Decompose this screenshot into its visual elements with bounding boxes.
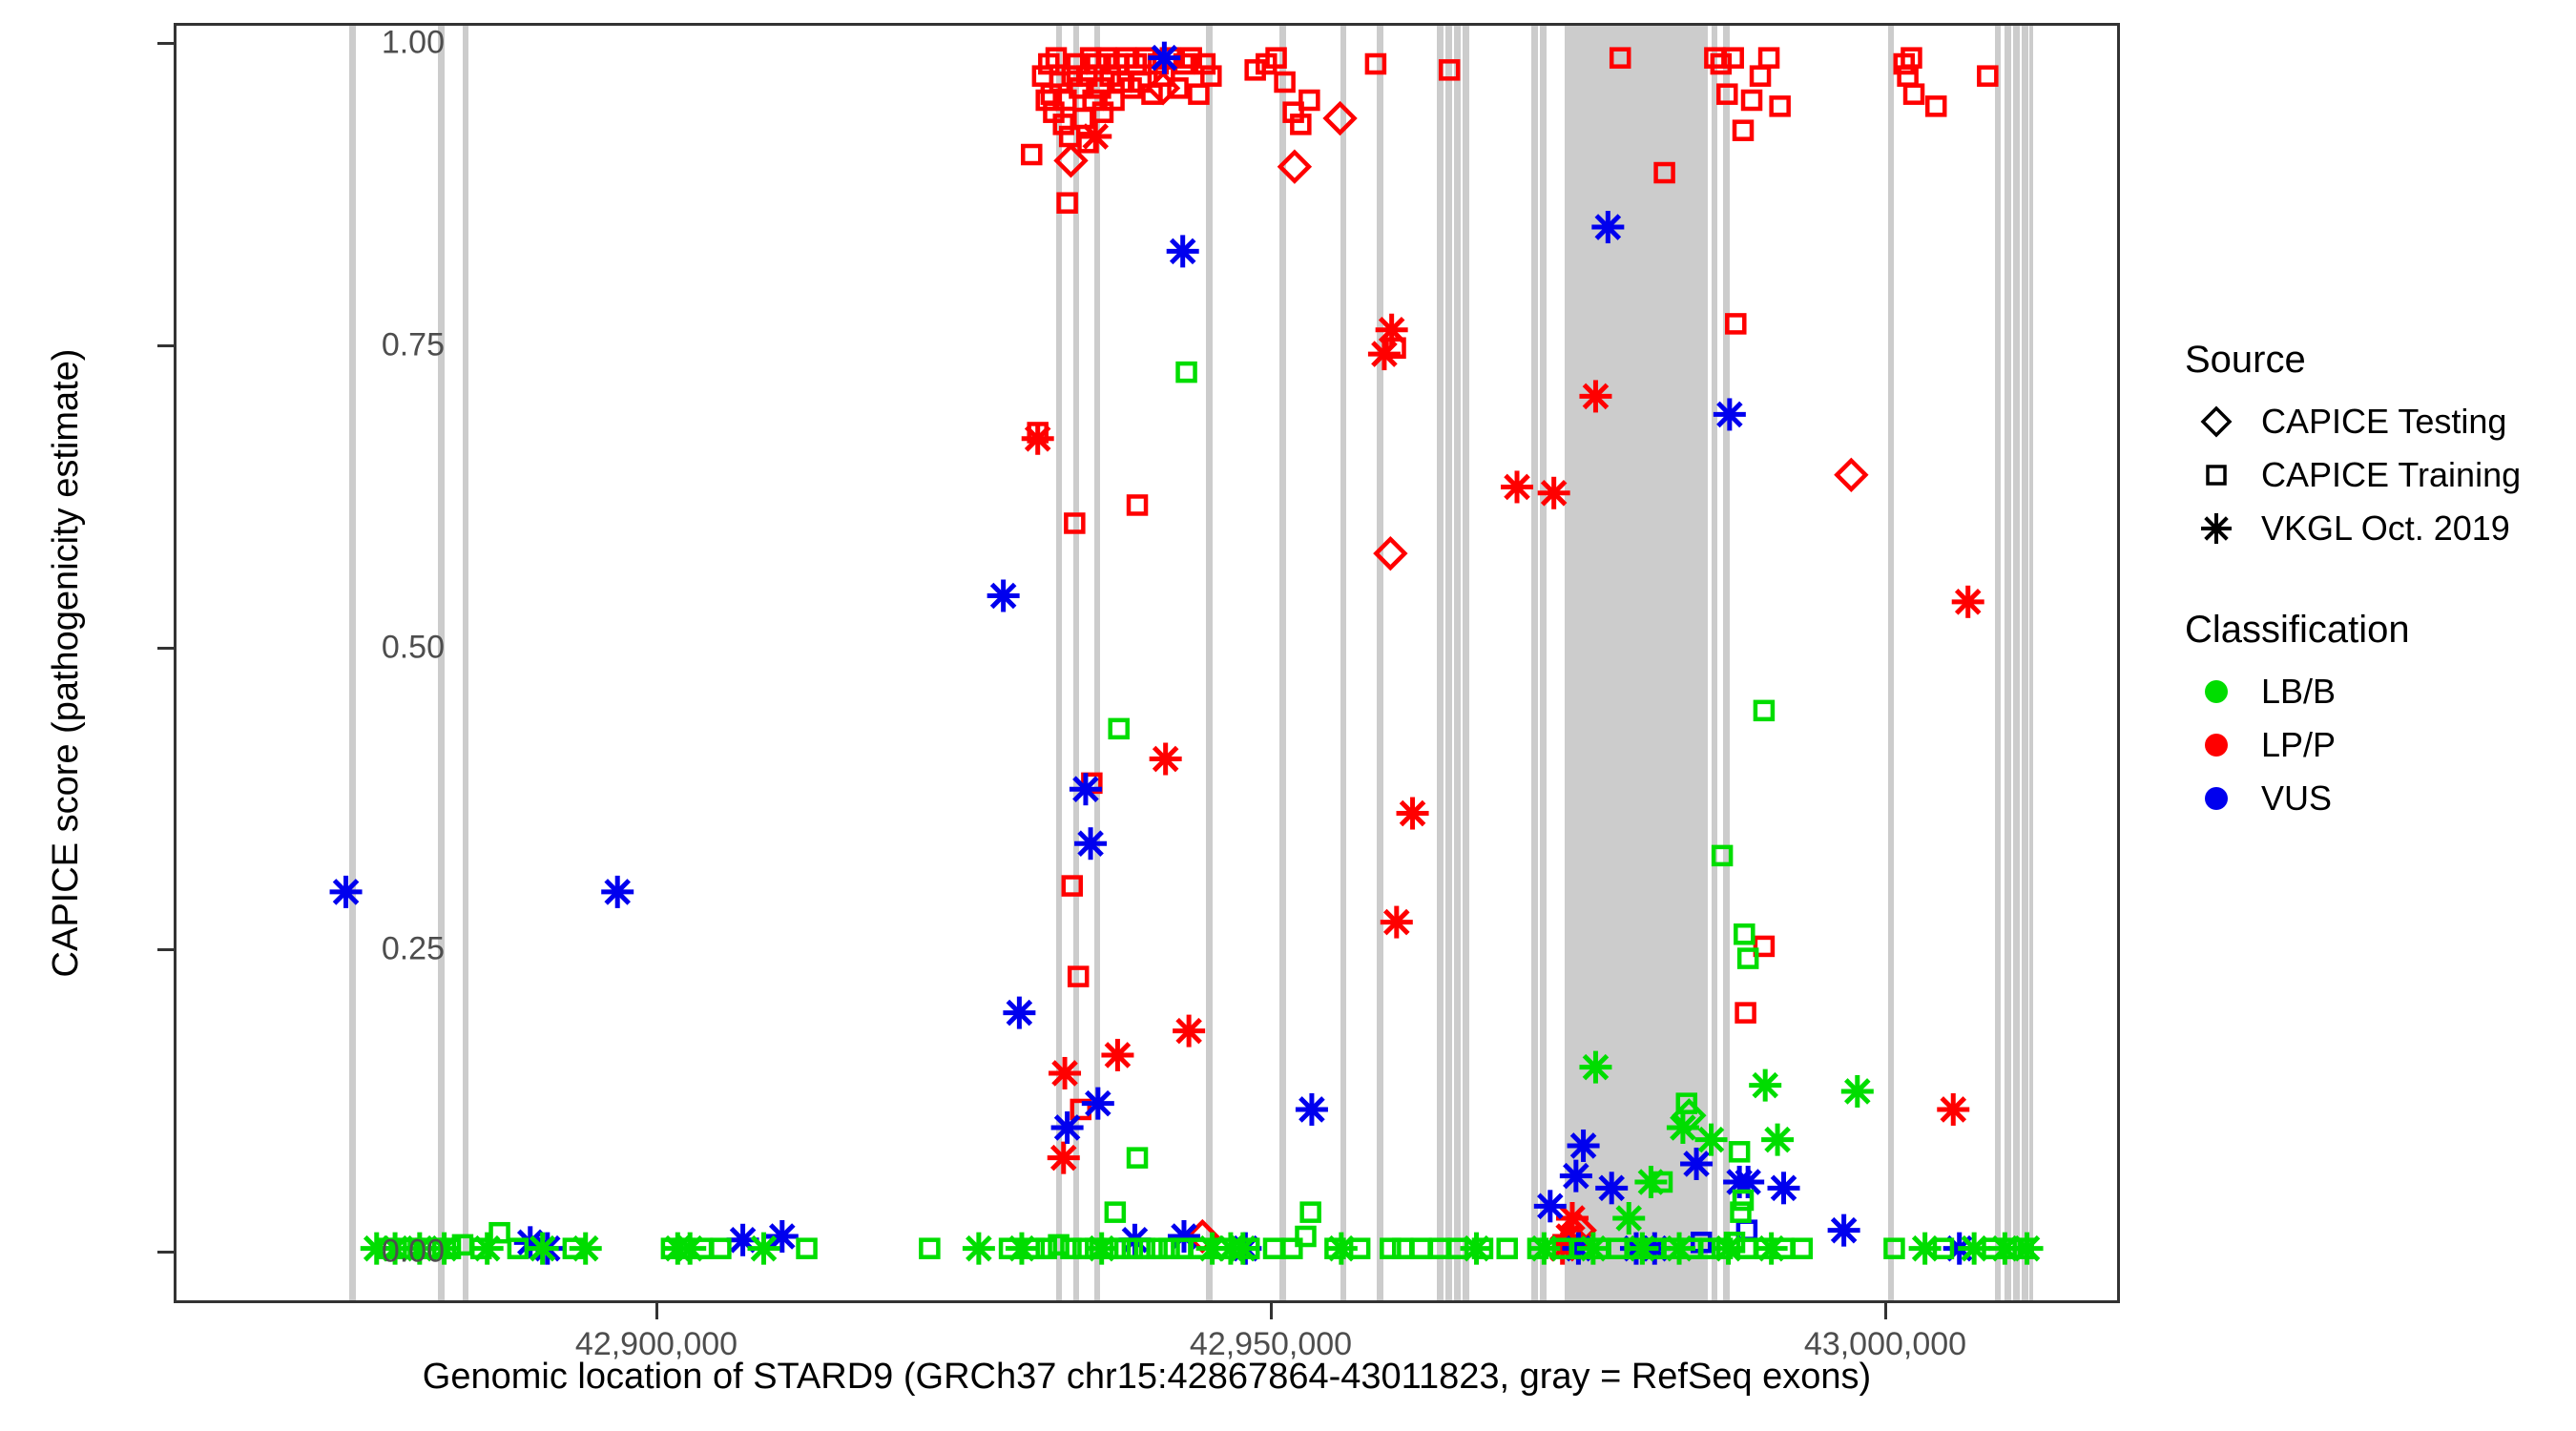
circle-icon — [2195, 778, 2237, 819]
data-point — [1061, 128, 1078, 145]
data-point — [1755, 702, 1773, 719]
legend-title-source: Source — [2185, 339, 2566, 382]
data-point — [1227, 1233, 1259, 1265]
data-point — [1749, 1069, 1781, 1102]
data-point — [1538, 477, 1570, 509]
data-point — [1413, 1240, 1430, 1257]
data-point — [1706, 50, 1723, 67]
legend-key — [2185, 778, 2248, 819]
data-point — [1070, 968, 1087, 985]
data-point — [1086, 1233, 1118, 1265]
data-point — [1735, 925, 1753, 943]
data-point — [1167, 235, 1199, 267]
y-tick-label: 0.50 — [382, 629, 445, 666]
data-point — [1626, 1233, 1658, 1265]
legend: Source CAPICE TestingCAPICE TrainingVKGL… — [2185, 339, 2566, 825]
data-point — [1501, 470, 1533, 503]
data-point — [1714, 398, 1746, 430]
data-point — [963, 1233, 995, 1265]
data-point — [1022, 423, 1054, 455]
series-LP-P-asterisk — [1022, 120, 1984, 1265]
data-point — [1082, 1088, 1114, 1120]
y-tick-mark — [157, 42, 174, 45]
data-point — [1713, 55, 1730, 73]
data-point — [1731, 1143, 1748, 1160]
data-point — [1958, 1233, 1990, 1265]
data-point — [1280, 153, 1309, 181]
y-tick-mark — [157, 344, 174, 347]
legend-item-source-0[interactable]: CAPICE Testing — [2185, 395, 2566, 448]
data-point — [1066, 514, 1083, 531]
plot-area — [177, 26, 2117, 1300]
data-point — [1149, 1240, 1166, 1257]
y-tick-label: 0.75 — [382, 326, 445, 363]
x-tick-mark — [1270, 1303, 1273, 1319]
data-point — [1499, 1240, 1516, 1257]
data-point — [1612, 1202, 1645, 1234]
legend-key — [2185, 724, 2248, 766]
data-point — [1979, 68, 1996, 85]
data-point — [1376, 539, 1404, 568]
data-point — [601, 876, 634, 908]
data-point — [1735, 122, 1752, 139]
data-point — [1397, 798, 1429, 830]
x-axis-title: Genomic location of STARD9 (GRCh37 chr15… — [174, 1357, 2120, 1398]
data-point — [1277, 73, 1294, 91]
legend-key — [2185, 401, 2248, 443]
data-point — [1727, 315, 1744, 332]
data-point — [1761, 1124, 1794, 1156]
legend-item-classification-1[interactable]: LP/P — [2185, 718, 2566, 772]
data-point — [1368, 338, 1401, 370]
data-point — [747, 1233, 779, 1265]
data-point — [1714, 847, 1731, 864]
data-point — [1718, 86, 1735, 103]
data-point — [1074, 110, 1091, 127]
data-point — [527, 1233, 559, 1265]
legend-spacer — [2185, 555, 2566, 609]
series-LP-P-square — [1023, 50, 1996, 1118]
x-tick-mark — [655, 1303, 658, 1319]
data-point — [1023, 146, 1040, 163]
data-point — [1129, 496, 1146, 513]
y-tick-mark — [157, 1251, 174, 1254]
data-point — [2011, 1233, 2044, 1265]
series-VUS-asterisk — [330, 42, 1976, 1265]
data-point — [1937, 1093, 1969, 1126]
data-point — [1527, 1233, 1560, 1265]
series-LB-B-asterisk — [361, 1051, 2044, 1265]
y-tick-mark — [157, 647, 174, 650]
data-point — [1006, 1233, 1038, 1265]
data-point — [1577, 1233, 1610, 1265]
y-tick-mark — [157, 948, 174, 951]
y-tick-label: 1.00 — [382, 25, 445, 62]
legend-item-classification-0[interactable]: LB/B — [2185, 665, 2566, 718]
data-point — [1634, 1166, 1667, 1198]
data-point — [1927, 97, 1944, 114]
legend-label: LP/P — [2261, 725, 2336, 765]
data-point — [1325, 1233, 1358, 1265]
data-point — [1107, 1204, 1124, 1221]
data-point — [1381, 1240, 1399, 1257]
data-point — [987, 579, 1020, 612]
data-point — [1837, 461, 1865, 489]
data-point — [1296, 1093, 1328, 1126]
data-point — [1173, 1015, 1205, 1047]
data-point — [1579, 380, 1611, 412]
data-point — [1841, 1075, 1874, 1108]
data-point — [330, 876, 363, 908]
data-point — [1064, 878, 1081, 895]
data-point — [1743, 92, 1760, 109]
data-point — [1178, 363, 1195, 381]
x-tick-mark — [1884, 1303, 1887, 1319]
legend-item-classification-2[interactable]: VUS — [2185, 772, 2566, 825]
legend-key — [2185, 454, 2248, 496]
data-point — [1794, 1240, 1811, 1257]
legend-group-classification: LB/BLP/PVUS — [2185, 665, 2566, 825]
legend-item-source-1[interactable]: CAPICE Training — [2185, 448, 2566, 502]
data-points-layer — [177, 26, 2120, 1303]
data-point — [1568, 1130, 1600, 1162]
data-point — [1591, 211, 1624, 243]
data-point — [1441, 61, 1458, 78]
data-point — [1738, 1222, 1755, 1239]
data-point — [1302, 1204, 1319, 1221]
series-LB-B-square — [381, 363, 2032, 1257]
legend-label: LB/B — [2261, 672, 2336, 712]
data-point — [1367, 55, 1384, 73]
data-point — [1579, 1051, 1611, 1084]
square-icon — [2195, 454, 2237, 496]
data-point — [1074, 827, 1107, 860]
circle-icon — [2195, 724, 2237, 766]
data-point — [674, 1233, 706, 1265]
data-point — [1713, 1233, 1745, 1265]
legend-group-source: CAPICE TestingCAPICE TrainingVKGL Oct. 2… — [2185, 395, 2566, 555]
data-point — [1772, 97, 1789, 114]
data-point — [1079, 120, 1111, 153]
legend-label: VKGL Oct. 2019 — [2261, 508, 2510, 549]
data-point — [1680, 1148, 1713, 1180]
data-point — [471, 1233, 504, 1265]
data-point — [799, 1240, 816, 1257]
data-point — [1755, 1233, 1788, 1265]
data-point — [1656, 164, 1673, 181]
data-point — [1752, 68, 1769, 85]
data-point — [1737, 1005, 1755, 1022]
data-point — [1034, 68, 1051, 85]
data-point — [1885, 1240, 1902, 1257]
data-point — [1725, 50, 1742, 67]
legend-label: CAPICE Training — [2261, 455, 2521, 495]
data-point — [1265, 1240, 1282, 1257]
data-point — [1190, 86, 1207, 103]
data-point — [1048, 1142, 1080, 1174]
data-point — [1326, 104, 1355, 133]
data-point — [1148, 42, 1180, 74]
circle-icon — [2195, 671, 2237, 713]
data-point — [1247, 61, 1264, 78]
data-point — [570, 1233, 602, 1265]
data-point — [712, 1240, 729, 1257]
data-point — [1202, 68, 1219, 85]
data-point — [1760, 50, 1777, 67]
data-point — [1595, 1172, 1628, 1204]
data-point — [1768, 1172, 1800, 1204]
data-point — [1059, 195, 1076, 212]
y-tick-label: 0.00 — [382, 1234, 445, 1271]
data-point — [1828, 1214, 1860, 1247]
legend-key — [2185, 508, 2248, 550]
legend-label: VUS — [2261, 778, 2332, 819]
data-point — [1129, 1150, 1146, 1167]
plot-panel — [174, 23, 2120, 1303]
legend-label: CAPICE Testing — [2261, 402, 2506, 442]
data-point — [1667, 1111, 1699, 1144]
data-point — [1461, 1233, 1493, 1265]
y-axis-title: CAPICE score (pathogenicity estimate) — [44, 0, 88, 1326]
data-point — [1051, 1111, 1084, 1144]
data-point — [1909, 1233, 1942, 1265]
data-point — [1101, 1039, 1133, 1071]
data-point — [1394, 1240, 1411, 1257]
data-point — [1663, 1233, 1695, 1265]
data-point — [1376, 314, 1408, 346]
data-point — [1003, 997, 1035, 1029]
data-point — [1905, 86, 1922, 103]
legend-key — [2185, 671, 2248, 713]
data-point — [921, 1240, 938, 1257]
legend-item-source-2[interactable]: VKGL Oct. 2019 — [2185, 502, 2566, 555]
data-point — [1534, 1190, 1567, 1222]
data-point — [1560, 1160, 1592, 1192]
data-point — [1049, 1057, 1081, 1089]
legend-title-classification: Classification — [2185, 609, 2566, 652]
y-tick-label: 0.25 — [382, 931, 445, 968]
data-point — [1150, 743, 1182, 776]
chart-root: CAPICE score (pathogenicity estimate) 0.… — [0, 0, 2576, 1431]
asterisk-icon — [2195, 508, 2237, 550]
data-point — [1952, 586, 1984, 618]
data-point — [1611, 50, 1629, 67]
data-point — [1381, 906, 1413, 939]
diamond-icon — [2195, 401, 2237, 443]
data-point — [1070, 773, 1102, 805]
data-point — [1695, 1124, 1728, 1156]
data-point — [1111, 720, 1128, 737]
data-point — [1431, 1240, 1448, 1257]
